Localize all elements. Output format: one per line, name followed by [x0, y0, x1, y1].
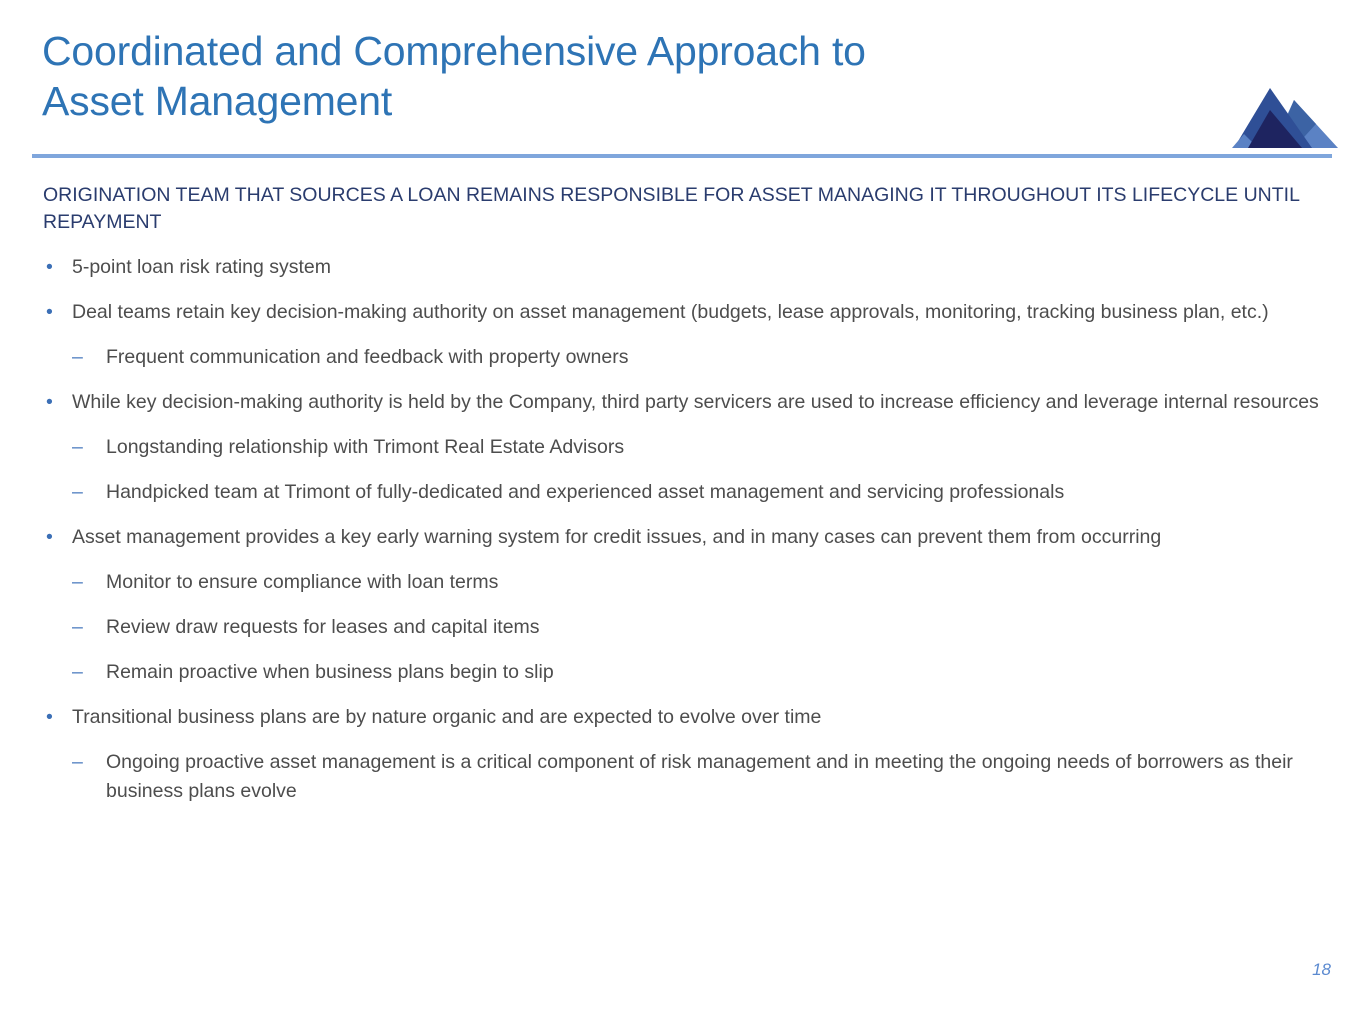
bullet-dash-icon: –	[72, 658, 83, 687]
bullet-text: Transitional business plans are by natur…	[72, 703, 1333, 732]
page-title: Coordinated and Comprehensive Approach t…	[42, 26, 1092, 126]
bullet-text: While key decision-making authority is h…	[72, 388, 1333, 417]
sub-bullet-item: –Frequent communication and feedback wit…	[43, 343, 1333, 372]
bullet-text: Longstanding relationship with Trimont R…	[106, 433, 1333, 462]
slide-subheading: ORIGINATION TEAM THAT SOURCES A LOAN REM…	[43, 182, 1328, 236]
bullet-text: Asset management provides a key early wa…	[72, 523, 1333, 552]
sub-bullet-item: –Ongoing proactive asset management is a…	[43, 748, 1333, 806]
sub-bullet-item: –Review draw requests for leases and cap…	[43, 613, 1333, 642]
title-divider	[32, 154, 1332, 158]
sub-bullet-item: –Handpicked team at Trimont of fully-ded…	[43, 478, 1333, 507]
mountain-logo-icon	[1228, 86, 1338, 152]
page-number: 18	[1312, 960, 1331, 980]
bullet-item: •Transitional business plans are by natu…	[43, 703, 1333, 732]
bullet-text: 5-point loan risk rating system	[72, 253, 1333, 282]
bullet-text: Handpicked team at Trimont of fully-dedi…	[106, 478, 1333, 507]
bullet-dash-icon: –	[72, 433, 83, 462]
sub-bullet-item: –Remain proactive when business plans be…	[43, 658, 1333, 687]
bullet-dash-icon: –	[72, 343, 83, 372]
bullet-text: Deal teams retain key decision-making au…	[72, 298, 1333, 327]
bullet-text: Review draw requests for leases and capi…	[106, 613, 1333, 642]
slide-canvas: Coordinated and Comprehensive Approach t…	[0, 0, 1365, 1024]
bullet-text: Frequent communication and feedback with…	[106, 343, 1333, 372]
bullet-dot-icon: •	[46, 523, 53, 552]
bullet-item: •Deal teams retain key decision-making a…	[43, 298, 1333, 327]
bullet-item: •Asset management provides a key early w…	[43, 523, 1333, 552]
bullet-text: Monitor to ensure compliance with loan t…	[106, 568, 1333, 597]
bullet-item: •5-point loan risk rating system	[43, 253, 1333, 282]
company-logo	[1228, 86, 1338, 152]
bullet-dash-icon: –	[72, 478, 83, 507]
bullet-text: Ongoing proactive asset management is a …	[106, 748, 1333, 806]
bullet-dash-icon: –	[72, 613, 83, 642]
sub-bullet-item: –Longstanding relationship with Trimont …	[43, 433, 1333, 462]
bullet-dash-icon: –	[72, 748, 83, 777]
sub-bullet-item: –Monitor to ensure compliance with loan …	[43, 568, 1333, 597]
bullet-dot-icon: •	[46, 703, 53, 732]
bullet-dash-icon: –	[72, 568, 83, 597]
bullet-item: •While key decision-making authority is …	[43, 388, 1333, 417]
bullet-dot-icon: •	[46, 253, 53, 282]
bullet-dot-icon: •	[46, 298, 53, 327]
bullet-text: Remain proactive when business plans beg…	[106, 658, 1333, 687]
bullet-dot-icon: •	[46, 388, 53, 417]
bullet-list: •5-point loan risk rating system•Deal te…	[43, 253, 1333, 822]
title-block: Coordinated and Comprehensive Approach t…	[42, 26, 1092, 126]
